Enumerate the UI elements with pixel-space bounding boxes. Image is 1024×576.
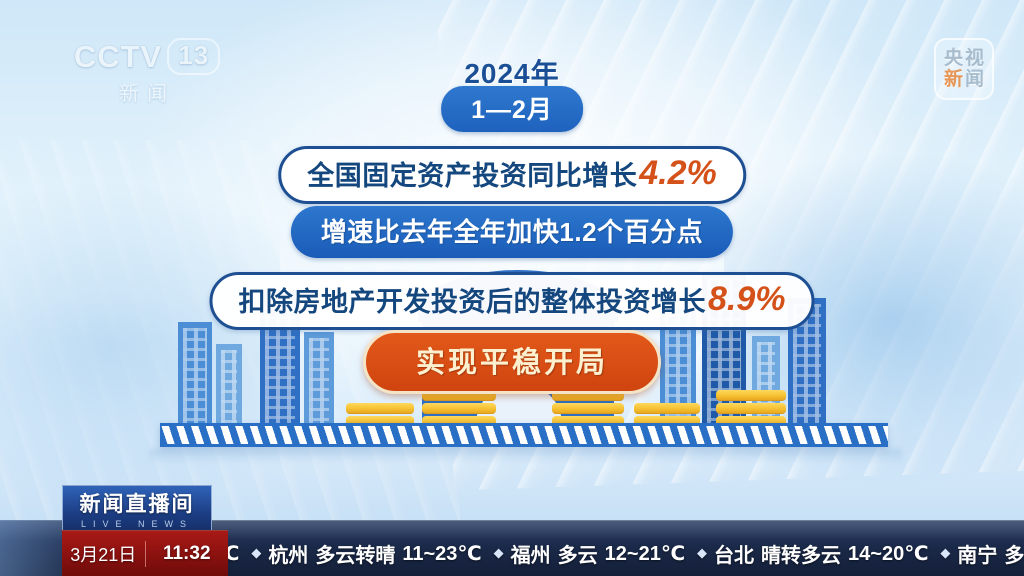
building-windows — [309, 338, 329, 436]
datetime-box: 3月21日 11:32 — [62, 530, 228, 576]
weather-city: 南宁 — [957, 539, 997, 568]
weather-ticker-track: 9℃ ◆ 杭州 多云转晴 11~23℃ ◆ 福州 多云 12~21℃ ◆ 台北 — [228, 539, 1024, 568]
lower-third-left-fade — [0, 520, 62, 576]
stat-row-growth-acceleration: 增速比去年全年加快1.2个百分点 — [291, 206, 733, 258]
weather-item: ◆ 杭州 多云转晴 11~23℃ — [239, 539, 481, 568]
weather-city: 福州 — [511, 539, 551, 568]
stat-row-fixed-asset-investment: 全国固定资产投资同比增长 4.2% — [278, 146, 746, 204]
weather-condition: 多云 — [558, 539, 598, 568]
building-windows — [183, 328, 207, 436]
diamond-separator-icon: ◆ — [940, 545, 950, 561]
diamond-separator-icon: ◆ — [494, 545, 504, 561]
stat-row-excluding-realestate: 扣除房地产开发投资后的整体投资增长 8.9% — [210, 272, 815, 330]
stat-value-3: 8.9% — [708, 280, 786, 319]
diamond-separator-icon: ◆ — [251, 545, 261, 561]
gold-coin — [552, 403, 624, 414]
weather-city: 台北 — [714, 539, 754, 568]
stat-value-1: 4.2% — [639, 154, 717, 193]
lower-third: 新闻直播间 LIVE NEWS 3月21日 11:32 9℃ ◆ 杭州 多云转晴… — [0, 494, 1024, 576]
weather-condition: 多云转晴 — [315, 539, 395, 568]
weather-condition: 多云 — [1004, 539, 1024, 568]
stat-label-1: 全国固定资产投资同比增长 — [307, 154, 637, 193]
platform-shadow — [150, 449, 902, 463]
gold-coin — [346, 403, 414, 414]
weather-temp: 11~23℃ — [402, 541, 481, 566]
program-logo: 新闻直播间 LIVE NEWS — [62, 485, 212, 531]
weather-temp: 12~21℃ — [605, 541, 685, 566]
stat-label-2: 增速比去年全年加快1.2个百分点 — [321, 212, 703, 249]
gold-coin — [422, 403, 496, 414]
conclusion-label: 实现平稳开局 — [416, 339, 608, 381]
gold-coin — [716, 403, 786, 414]
weather-city: 杭州 — [268, 539, 308, 568]
weather-item: ◆ 福州 多云 12~21℃ — [482, 539, 685, 568]
diamond-separator-icon: ◆ — [697, 545, 707, 561]
gold-coin — [716, 390, 786, 401]
weather-ticker: 9℃ ◆ 杭州 多云转晴 11~23℃ ◆ 福州 多云 12~21℃ ◆ 台北 — [228, 530, 1024, 576]
stat-label-3: 扣除房地产开发投资后的整体投资增长 — [239, 280, 707, 319]
program-subtitle: LIVE NEWS — [81, 519, 193, 529]
conclusion-banner: 实现平稳开局 — [363, 330, 661, 394]
weather-temp: 9℃ — [228, 541, 239, 566]
gold-coin — [634, 403, 700, 414]
broadcast-frame: CCTV 13 新闻 央 视 新 闻 — [0, 0, 1024, 576]
weather-temp: 14~20℃ — [848, 541, 928, 566]
program-title: 新闻直播间 — [80, 488, 195, 518]
weather-item: 9℃ — [228, 541, 239, 566]
weather-item: ◆ 南宁 多云 — [928, 539, 1024, 568]
month-range-pill: 1—2月 — [441, 86, 583, 132]
striped-platform-bar — [160, 423, 888, 447]
weather-condition: 晴转多云 — [761, 539, 841, 568]
weather-item: ◆ 台北 晴转多云 14~20℃ — [685, 539, 928, 568]
broadcast-time: 11:32 — [146, 543, 229, 565]
broadcast-date: 3月21日 — [62, 541, 145, 567]
